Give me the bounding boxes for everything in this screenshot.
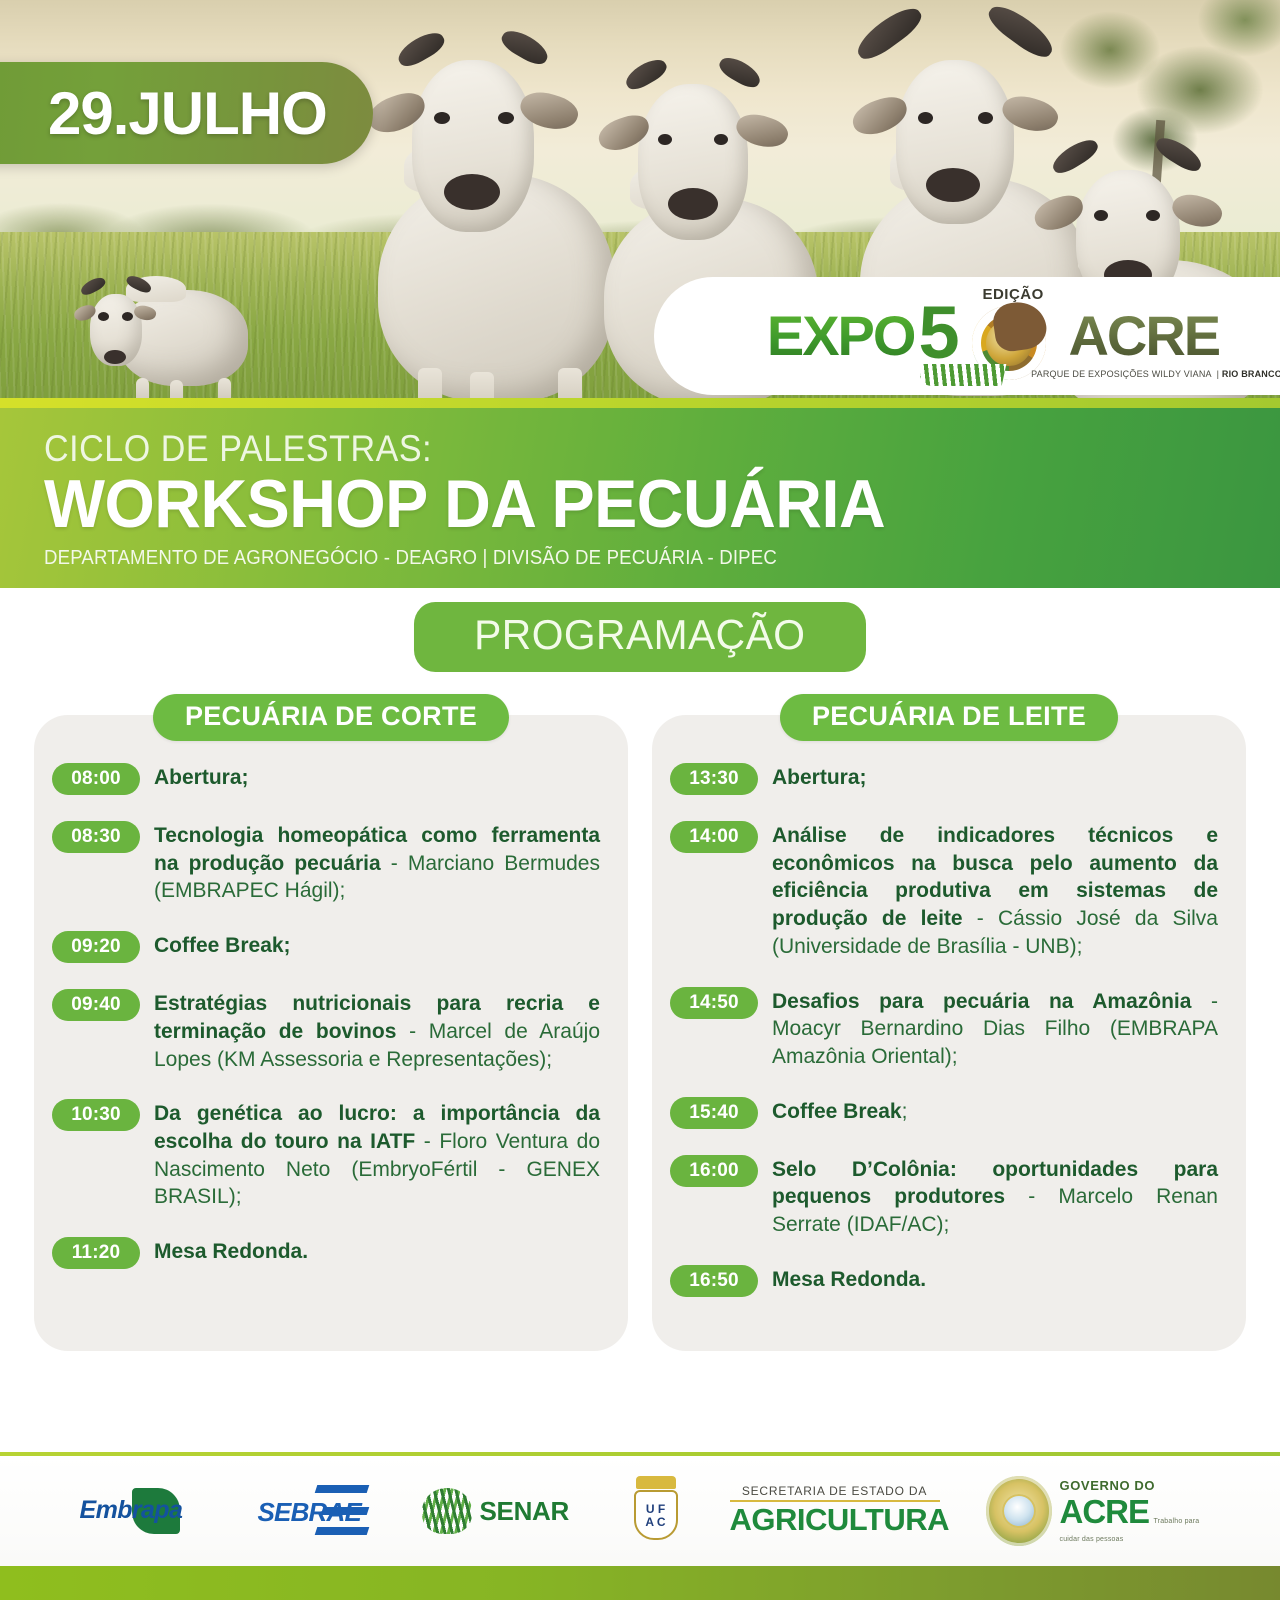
sebrae-logo: SEBRAE — [258, 1483, 376, 1539]
acre-state-crest-icon — [986, 1476, 1052, 1546]
ufac-crown-icon — [636, 1476, 676, 1489]
venue-city: RIO BRANCO/AC — [1222, 369, 1280, 379]
governo-acre-wordmark: GOVERNO DO ACRE Trabalho para cuidar das… — [1060, 1477, 1201, 1546]
schedule-card-leite: 13:30 Abertura; 14:00 Análise de indicad… — [652, 715, 1246, 1351]
title-subtitle: DEPARTAMENTO DE AGRONEGÓCIO - DEAGRO | D… — [44, 547, 1193, 570]
ufac-shield-icon: U F A C — [634, 1490, 678, 1540]
secretaria-line: SECRETARIA DE ESTADO DA — [730, 1484, 940, 1502]
agenda-title: Coffee Break — [772, 1100, 902, 1123]
time-badge: 14:00 — [670, 821, 758, 853]
agenda-title: Abertura; — [154, 766, 249, 789]
agenda-text: Da genética ao lucro: a importância da e… — [154, 1099, 600, 1211]
page-title: WORKSHOP DA PECUÁRIA — [44, 470, 1218, 539]
agenda-text: Tecnologia homeopática como ferramenta n… — [154, 821, 600, 905]
program-heading: PROGRAMAÇÃO — [414, 602, 866, 672]
agenda-text: Análise de indicadores técnicos e econôm… — [772, 821, 1218, 961]
column-heading-wrap-leite: PECUÁRIA DE LEITE — [652, 694, 1246, 741]
senar-wordmark: SENAR — [480, 1496, 570, 1527]
accent-rule-top — [0, 398, 1280, 408]
list-item: 16:50 Mesa Redonda. — [670, 1265, 1218, 1297]
footer-accent-strip — [0, 1566, 1280, 1600]
title-kicker: CICLO DE PALESTRAS: — [44, 430, 1181, 468]
column-heading-corte: PECUÁRIA DE CORTE — [153, 694, 509, 741]
column-heading-wrap-corte: PECUÁRIA DE CORTE — [34, 694, 628, 741]
time-badge: 15:40 — [670, 1097, 758, 1129]
governo-line-1: GOVERNO DO — [1060, 1478, 1156, 1493]
acre-wordmark: ACRE — [1068, 308, 1219, 364]
time-badge: 08:00 — [52, 763, 140, 795]
agricultura-wordmark: AGRICULTURA — [730, 1504, 940, 1537]
time-badge: 16:50 — [670, 1265, 758, 1297]
hero-banner: 29.JULHO EXPO EDIÇÃO 5 ACRE PARQUE DE EX… — [0, 0, 1280, 408]
schedule-column-leite: PECUÁRIA DE LEITE 13:30 Abertura; 14:00 … — [652, 694, 1246, 1351]
expo-acre-logo-plate: EXPO EDIÇÃO 5 ACRE PARQUE DE EXPOSIÇÕES … — [654, 277, 1280, 395]
list-item: 09:40 Estratégias nutricionais para recr… — [52, 989, 600, 1073]
cow-far-left — [78, 250, 258, 400]
agenda-text: Selo D’Colônia: oportunidades para peque… — [772, 1155, 1218, 1239]
schedule-column-corte: PECUÁRIA DE CORTE 08:00 Abertura; 08:30 … — [34, 694, 628, 1351]
secretaria-agricultura-logo: SECRETARIA DE ESTADO DA AGRICULTURA — [730, 1484, 940, 1538]
field-stripes-icon — [918, 364, 1007, 386]
agenda-title: Mesa Redonda. — [772, 1268, 926, 1291]
agenda-text: Mesa Redonda. — [154, 1237, 600, 1269]
time-badge: 09:40 — [52, 989, 140, 1021]
agenda-text: Abertura; — [772, 763, 1218, 795]
time-badge: 13:30 — [670, 763, 758, 795]
embrapa-wordmark: Embrapa — [80, 1496, 212, 1525]
agenda-text: Coffee Break; — [772, 1097, 1218, 1129]
schedule-card-corte: 08:00 Abertura; 08:30 Tecnologia homeopá… — [34, 715, 628, 1351]
agenda-title: Abertura; — [772, 766, 867, 789]
time-badge: 09:20 — [52, 931, 140, 963]
ufac-logo: U F A C — [628, 1476, 684, 1546]
column-heading-leite: PECUÁRIA DE LEITE — [780, 694, 1118, 741]
agenda-title: Coffee Break; — [154, 934, 291, 957]
governo-line-2: ACRE — [1060, 1493, 1150, 1530]
senar-leaf-fan-icon — [422, 1488, 472, 1534]
event-date-label: 29.JULHO — [48, 79, 327, 148]
edicao-label: EDIÇÃO — [982, 286, 1043, 303]
time-badge: 11:20 — [52, 1237, 140, 1269]
list-item: 11:20 Mesa Redonda. — [52, 1237, 600, 1269]
list-item: 13:30 Abertura; — [670, 763, 1218, 795]
list-item: 09:20 Coffee Break; — [52, 931, 600, 963]
agenda-text: Abertura; — [154, 763, 600, 795]
time-badge: 16:00 — [670, 1155, 758, 1187]
agenda-text: Coffee Break; — [154, 931, 600, 963]
list-item: 08:30 Tecnologia homeopática como ferram… — [52, 821, 600, 905]
list-item: 14:50 Desafios para pecuária na Amazônia… — [670, 987, 1218, 1071]
senar-logo: SENAR — [422, 1485, 582, 1537]
governo-acre-logo: GOVERNO DO ACRE Trabalho para cuidar das… — [986, 1473, 1201, 1549]
schedule-columns: PECUÁRIA DE CORTE 08:00 Abertura; 08:30 … — [0, 672, 1280, 1351]
list-item: 15:40 Coffee Break; — [670, 1097, 1218, 1129]
expo-wordmark: EXPO — [767, 308, 915, 364]
sponsor-logos-bar: Embrapa SEBRAE SENAR U F A C SECRETARIA … — [0, 1456, 1280, 1566]
program-heading-wrap: PROGRAMAÇÃO — [0, 588, 1280, 672]
list-item: 14:00 Análise de indicadores técnicos e … — [670, 821, 1218, 961]
sebrae-wordmark: SEBRAE — [258, 1497, 362, 1528]
list-item: 08:00 Abertura; — [52, 763, 600, 795]
list-item: 10:30 Da genética ao lucro: a importânci… — [52, 1099, 600, 1211]
event-date-banner: 29.JULHO — [0, 62, 373, 164]
time-badge: 14:50 — [670, 987, 758, 1019]
time-badge: 08:30 — [52, 821, 140, 853]
agenda-speaker: ; — [902, 1100, 908, 1123]
agenda-text: Estratégias nutricionais para recria e t… — [154, 989, 600, 1073]
venue-name: PARQUE DE EXPOSIÇÕES WILDY VIANA — [1031, 369, 1211, 379]
ufac-line-1: U F — [646, 1503, 665, 1515]
venue-line: PARQUE DE EXPOSIÇÕES WILDY VIANA | RIO B… — [1031, 369, 1280, 379]
agenda-title: Mesa Redonda. — [154, 1240, 308, 1263]
agenda-title: Desafios para pecuária na Amazônia — [772, 990, 1191, 1013]
title-band: CICLO DE PALESTRAS: WORKSHOP DA PECUÁRIA… — [0, 408, 1280, 588]
agenda-text: Desafios para pecuária na Amazônia - Moa… — [772, 987, 1218, 1071]
embrapa-logo: Embrapa — [80, 1484, 212, 1538]
sebrae-bar-icon — [314, 1485, 369, 1493]
agenda-text: Mesa Redonda. — [772, 1265, 1218, 1297]
list-item: 16:00 Selo D’Colônia: oportunidades para… — [670, 1155, 1218, 1239]
sebrae-bar-icon — [314, 1527, 369, 1535]
ufac-line-2: A C — [645, 1516, 665, 1528]
time-badge: 10:30 — [52, 1099, 140, 1131]
edition-number: 5 — [918, 296, 955, 370]
